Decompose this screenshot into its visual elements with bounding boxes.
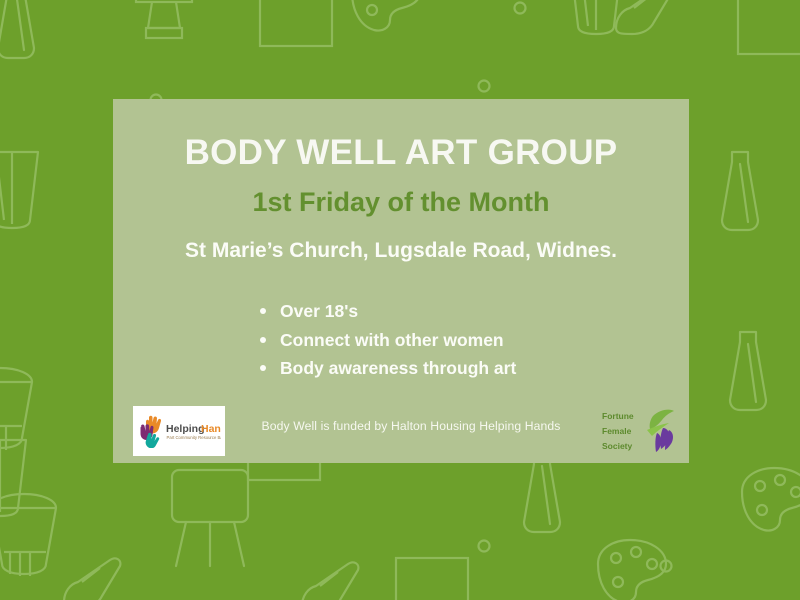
feature-bullet-list: Over 18's Connect with other women Body … bbox=[113, 297, 689, 383]
svg-text:Society: Society bbox=[602, 441, 633, 451]
svg-text:Part Community Resource Bank: Part Community Resource Bank bbox=[167, 435, 222, 440]
list-item: Connect with other women bbox=[113, 326, 689, 355]
bullet-dot-icon bbox=[260, 308, 266, 314]
content-card: BODY WELL ART GROUP 1st Friday of the Mo… bbox=[113, 99, 689, 463]
list-item: Over 18's bbox=[113, 297, 689, 326]
list-item: Body awareness through art bbox=[113, 354, 689, 383]
venue-address: St Marie’s Church, Lugsdale Road, Widnes… bbox=[113, 217, 689, 263]
page-title: BODY WELL ART GROUP bbox=[113, 99, 689, 172]
list-item-label: Connect with other women bbox=[280, 330, 504, 350]
bullet-dot-icon bbox=[260, 337, 266, 343]
list-item-label: Over 18's bbox=[280, 301, 358, 321]
svg-text:Fortune: Fortune bbox=[602, 411, 634, 421]
svg-text:Helping: Helping bbox=[166, 423, 205, 435]
poster-footer: Helping Hands Part Community Resource Ba… bbox=[113, 401, 689, 463]
card-text-block: BODY WELL ART GROUP 1st Friday of the Mo… bbox=[113, 99, 689, 264]
funding-credit-text: Body Well is funded by Halton Housing He… bbox=[233, 419, 589, 433]
helping-hands-logo: Helping Hands Part Community Resource Ba… bbox=[133, 406, 225, 456]
schedule-subtitle: 1st Friday of the Month bbox=[113, 172, 689, 218]
svg-text:Hands: Hands bbox=[201, 423, 221, 435]
fortune-female-society-logo: Fortune Female Society bbox=[599, 405, 681, 457]
list-item-label: Body awareness through art bbox=[280, 358, 516, 378]
bullet-dot-icon bbox=[260, 365, 266, 371]
poster-canvas: BODY WELL ART GROUP 1st Friday of the Mo… bbox=[0, 0, 800, 600]
svg-text:Female: Female bbox=[602, 426, 632, 436]
